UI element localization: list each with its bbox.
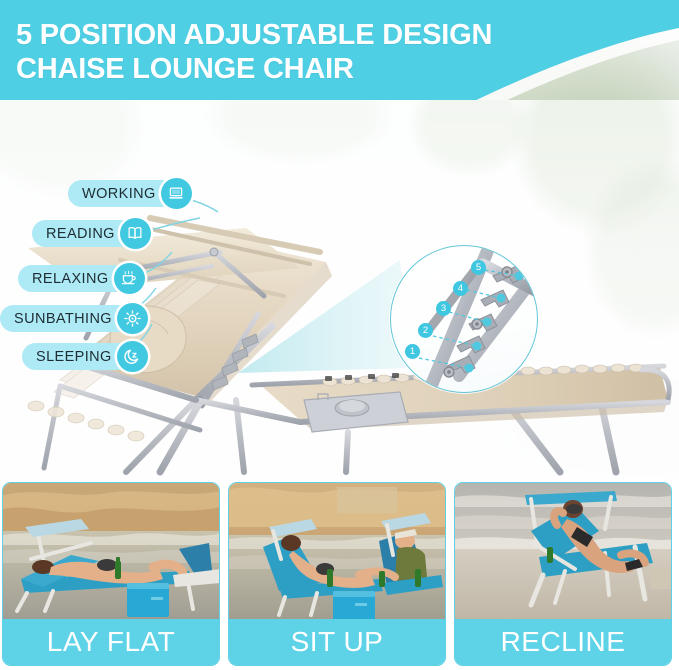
usage-panel-lay-flat-caption: LAY FLAT (3, 619, 219, 665)
usage-panel-recline[interactable]: RECLINE (454, 482, 672, 666)
usage-panel-recline-photo (455, 483, 671, 621)
product-infographic: 5 POSITION ADJUSTABLE DESIGN CHAISE LOUN… (0, 0, 679, 670)
use-case-label-sleeping-text: SLEEPING (36, 349, 112, 365)
side-table-tray (304, 392, 408, 472)
use-case-label-working-text: WORKING (82, 186, 156, 202)
usage-panel-lay-flat-photo (3, 483, 219, 621)
use-case-label-sunbathing[interactable]: SUNBATHING (0, 305, 146, 332)
position-marker-1: 1 (405, 344, 420, 359)
position-marker-5: 5 (471, 260, 486, 275)
use-case-label-sunbathing-text: SUNBATHING (14, 311, 112, 327)
sun-icon (117, 303, 148, 334)
moon-icon (117, 341, 148, 372)
book-icon (120, 218, 151, 249)
usage-panel-sit-up-photo (229, 483, 445, 621)
usage-mode-panels: LAY FLAT (0, 482, 679, 670)
position-marker-3: 3 (436, 301, 451, 316)
page-title: 5 POSITION ADJUSTABLE DESIGN CHAISE LOUN… (16, 18, 636, 86)
position-marker-2: 2 (418, 323, 433, 338)
position-marker-4: 4 (453, 281, 468, 296)
position-detail-magnifier: 1 2 3 4 5 (390, 245, 538, 393)
coffee-icon (114, 263, 145, 294)
laptop-icon (161, 178, 192, 209)
page-title-line-1: 5 POSITION ADJUSTABLE DESIGN (16, 18, 636, 52)
use-case-label-reading[interactable]: READING (32, 220, 149, 247)
use-case-label-group: WORKING READING (0, 100, 300, 480)
main-product-scene: WORKING READING (0, 100, 679, 480)
usage-panel-lay-flat[interactable]: LAY FLAT (2, 482, 220, 666)
use-case-label-working[interactable]: WORKING (68, 180, 190, 207)
usage-panel-recline-caption: RECLINE (455, 619, 671, 665)
use-case-label-relaxing-text: RELAXING (32, 271, 109, 287)
use-case-label-sleeping[interactable]: SLEEPING (22, 343, 146, 370)
usage-panel-sit-up-caption: SIT UP (229, 619, 445, 665)
page-title-line-2: CHAISE LOUNGE CHAIR (16, 52, 636, 86)
use-case-label-relaxing[interactable]: RELAXING (18, 265, 143, 292)
ratchet-mechanism-detail (391, 246, 537, 392)
usage-panel-sit-up[interactable]: SIT UP (228, 482, 446, 666)
use-case-label-reading-text: READING (46, 226, 115, 242)
